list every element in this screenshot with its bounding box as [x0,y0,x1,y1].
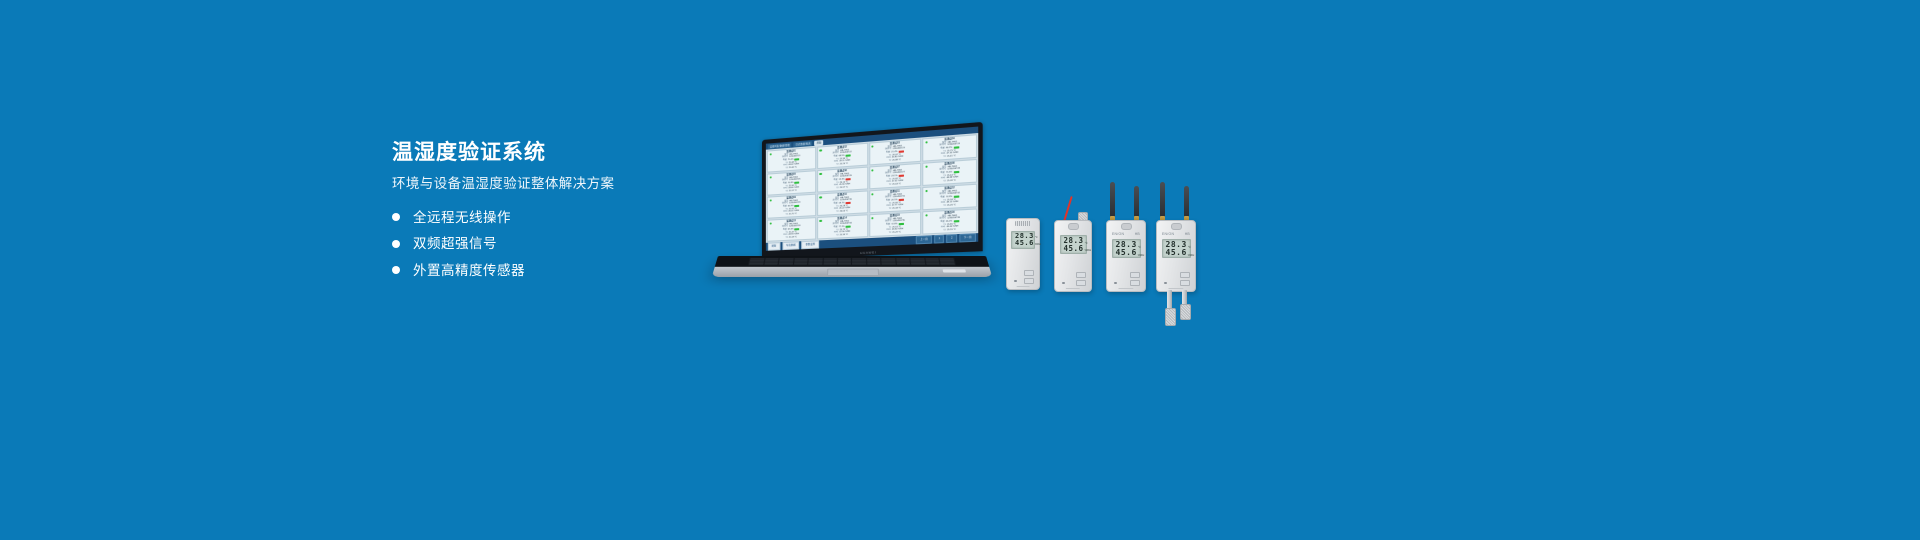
laptop-base [712,256,992,277]
sensor-card-row: T225.20 ℃ [836,162,848,166]
lcd-display: 28.3 ℃ 45.6 %RH [1112,239,1141,258]
device-brand-row: EN/ON HB [1157,232,1195,236]
hang-hole-icon [1121,223,1132,230]
sensor-row-value: 25.33 ℃ [892,207,901,210]
temperature-unit: ℃ [1035,237,1038,240]
lcd-display: 28.3 ℃ 45.6 %RH [1060,235,1087,254]
hang-hole-icon [1171,223,1182,230]
feature-label: 外置高精度传感器 [413,264,525,278]
lcd-humidity-line: 45.6 %RH [1166,249,1187,257]
laptop-keyboard[interactable] [748,258,956,266]
sensor-card[interactable]: 监测点13型号HB-TH01序列号1230456733电量69.4%T125.4… [767,217,816,242]
sensor-row-value: 26.04 ℃ [840,210,848,213]
lcd-humidity-line: 45.6 %RH [1064,245,1083,253]
sensor-card-grid: 监测点01型号HB-TH01序列号1230456721电量75.0%T125.6… [766,133,978,243]
sensor-card-row: T225.88 ℃ [889,159,901,163]
keyboard-key[interactable] [838,264,852,265]
sensor-row-value: 25.55 ℃ [947,228,956,231]
antenna-right-icon [1184,186,1189,218]
probe-sensor-mesh-2-icon [1180,304,1191,320]
promo-banner: 温湿度验证系统 环境与设备温湿度验证整体解决方案 全远程无线操作 双频超强信号 … [0,0,1920,540]
sensor-row-value: 25.97 ℃ [840,186,848,189]
page-2-button[interactable]: 2 [947,234,957,243]
sensor-card-row: T225.09 ℃ [943,179,956,183]
laptop-trackpad[interactable] [827,269,879,276]
device-body: 28.3 ℃ 45.6 %RH [1006,218,1040,290]
sensor-card-row: T225.18 ℃ [785,236,796,239]
sensor-row-key: T2 [889,183,892,186]
device-button-up[interactable] [1076,272,1086,278]
sensor-card[interactable]: 监测点03型号HB-TH01序列号1230456723电量21.4%T126.0… [869,139,922,166]
keyboard-key[interactable] [808,264,822,265]
keyboard-key[interactable] [852,264,866,265]
sensor-card-row: T225.41 ℃ [943,155,956,159]
bullet-icon [392,266,400,274]
sensor-card[interactable]: 监测点11型号HB-TH01序列号1230456731电量20.5%T125.6… [869,187,922,213]
device-button-down[interactable] [1076,280,1086,286]
lcd-display: 28.3 ℃ 45.6 %RH [1162,239,1191,258]
vent-grille-icon [1015,221,1031,226]
sensor-card[interactable]: 监测点14型号HB-TH01序列号1230456734电量77.1%T125.7… [817,214,868,239]
status-dot-icon [871,145,873,148]
sensor-card-row: T225.06 ℃ [785,166,796,169]
next-page-button[interactable]: 下一页 [959,233,976,242]
device-button-up[interactable] [1130,272,1140,278]
probe-sensor-mesh-icon [1165,308,1176,326]
status-led-icon [1164,282,1167,285]
device-logger-probe: 28.3 ℃ 45.6 %RH [1054,196,1092,292]
humidity-unit: %RH [1188,254,1195,257]
sensor-row-value: 25.29 ℃ [892,231,901,234]
device-button-pad[interactable] [1024,270,1034,284]
device-button-down[interactable] [1180,280,1190,286]
humidity-value: 45.6 [1064,245,1084,253]
status-led-icon [1062,282,1065,285]
status-dot-icon [769,153,771,156]
page-title: 温湿度验证系统 [392,142,722,163]
status-dot-icon [925,165,928,168]
keyboard-key[interactable] [897,264,911,265]
sensor-card[interactable]: 监测点16型号HB-TH01序列号1230456736电量65.2%T125.8… [922,208,977,234]
bullet-icon [392,213,400,221]
keyboard-row [749,264,955,265]
device-foot [1168,288,1183,290]
status-dot-icon [925,141,928,144]
device-button-pad[interactable] [1180,272,1190,286]
sensor-card-row: T226.04 ℃ [836,210,848,213]
keyboard-key[interactable] [911,264,925,265]
sensor-row-key: T2 [836,163,838,166]
antenna-left-icon [1110,182,1115,218]
humidity-value: 45.6 [1015,240,1034,247]
brand-left-label: EN/ON [1162,232,1174,236]
humidity-unit: %RH [1138,254,1145,257]
sensor-card-row: T225.33 ℃ [889,207,901,210]
feature-item-0: 全远程无线操作 [392,211,722,225]
feature-label: 全远程无线操作 [413,211,511,225]
sensor-row-key: T2 [785,190,787,193]
sensor-card[interactable]: 监测点04型号HB-TH01序列号1230456724电量80.2%T125.7… [922,134,977,162]
lcd-display: 28.3 ℃ 45.6 %RH [1011,231,1035,249]
prev-page-button[interactable]: 上一页 [916,235,932,244]
temperature-unit: ℃ [1085,242,1088,245]
device-body: EN/ON HB 28.3 ℃ 45.6 %RH [1106,220,1146,292]
sensor-row-value: 25.06 ℃ [789,166,797,169]
device-button-up[interactable] [1024,270,1034,276]
settings-button[interactable]: 参数设置 [802,240,820,249]
device-button-pad[interactable] [1130,272,1140,286]
status-dot-icon [925,189,928,192]
status-dot-icon [925,214,928,217]
status-dot-icon [769,222,771,225]
device-button-pad[interactable] [1076,272,1086,286]
keyboard-key[interactable] [793,264,807,265]
device-logger-compact: 28.3 ℃ 45.6 %RH [1006,218,1040,290]
sensor-row-key: T2 [889,159,892,162]
antenna-left-icon [1160,182,1165,218]
brand-right-label: HB [1185,232,1190,236]
sensor-row-key: T2 [785,213,787,216]
sensor-card[interactable]: 监测点08型号HB-TH01序列号1230456728电量71.6%T125.4… [922,159,977,186]
toolbar-spacer [821,240,914,244]
sensor-card-row: T225.12 ℃ [785,189,796,192]
device-body: 28.3 ℃ 45.6 %RH [1054,220,1092,292]
sensor-row-value: 25.63 ℃ [892,183,901,186]
status-led-icon [1014,280,1017,283]
sensor-card-row: T225.70 ℃ [785,213,796,216]
lcd-humidity-line: 45.6 %RH [1015,240,1031,247]
status-dot-icon [871,217,873,220]
sensor-card-row: T225.63 ℃ [889,183,901,186]
refresh-button[interactable]: 刷新 [768,242,780,251]
sensor-row-value: 25.88 ℃ [892,159,901,162]
sensor-row-value: 25.26 ℃ [947,204,956,207]
sensor-row-key: T2 [943,155,946,158]
device-logger-wireless-a: EN/ON HB 28.3 ℃ 45.6 %RH [1106,182,1146,292]
keyboard-key[interactable] [749,264,763,265]
sensor-card-row: T225.29 ℃ [889,231,901,234]
sensor-card-row: T225.39 ℃ [836,234,848,237]
export-data-button[interactable]: 导出数据 [782,241,799,250]
feature-item-2: 外置高精度传感器 [392,264,722,278]
sensor-row-key: T2 [785,167,787,170]
device-foot [1066,288,1080,290]
temperature-unit: ℃ [1188,246,1191,249]
sensor-row-key: T2 [836,187,838,190]
keyboard-key[interactable] [823,264,837,265]
antenna-right-icon [1134,186,1139,218]
sensor-card[interactable]: 监测点06型号HB-TH01序列号1230456726电量19.3%T126.1… [817,167,868,193]
sensor-row-key: T2 [943,180,946,183]
laptop-illustration: 设备列表/数据/参数 历史数据/报表 帮助 监测点01型号HB-TH01序列号1… [718,140,990,300]
keyboard-key[interactable] [882,264,896,265]
sensor-card[interactable]: 监测点05型号HB-TH01序列号1230456725电量76.8%T125.5… [767,170,816,195]
brand-left-label: EN/ON [1112,232,1124,236]
sensor-card-row: T225.55 ℃ [943,228,956,231]
banner-text-block: 温湿度验证系统 环境与设备温湿度验证整体解决方案 全远程无线操作 双频超强信号 … [392,142,722,290]
laptop-lid: 设备列表/数据/参数 历史数据/报表 帮助 监测点01型号HB-TH01序列号1… [762,122,983,260]
device-button-down[interactable] [1130,280,1140,286]
sensor-row-key: T2 [943,204,946,207]
device-brand-row: EN/ON HB [1107,232,1145,236]
keyboard-key[interactable] [941,264,955,265]
bullet-icon [392,240,400,248]
keyboard-key[interactable] [867,264,881,265]
sensor-row-key: T2 [943,229,946,232]
sensor-card[interactable]: 监测点15型号HB-TH01序列号1230456735电量72.8%T125.6… [869,211,922,237]
temperature-unit: ℃ [1138,246,1141,249]
status-led-icon [1114,282,1117,285]
status-dot-icon [819,172,821,175]
sensor-row-key: T2 [889,207,892,210]
sensor-row-value: 25.39 ℃ [840,234,848,237]
feature-item-1: 双频超强信号 [392,237,722,251]
humidity-value: 45.6 [1166,249,1187,257]
status-dot-icon [871,193,873,196]
sensor-card[interactable]: 监测点02型号HB-TH01序列号1230456722电量68.5%T125.3… [817,143,868,169]
sensor-card[interactable]: 监测点01型号HB-TH01序列号1230456721电量75.0%T125.6… [767,147,816,173]
keyboard-key[interactable] [764,264,778,265]
sensor-row-key: T2 [836,234,838,237]
device-foot [1118,288,1133,290]
lcd-humidity-line: 45.6 %RH [1116,249,1137,257]
keyboard-key[interactable] [779,264,793,265]
device-button-down[interactable] [1024,278,1034,284]
status-dot-icon [819,149,821,152]
sensor-row-key: T2 [785,236,787,239]
sensor-row-value: 25.20 ℃ [840,162,848,165]
banner-subtitle: 环境与设备温湿度验证整体解决方案 [392,177,722,191]
page-1-button[interactable]: 1 [934,235,944,244]
keyboard-key[interactable] [926,264,940,265]
humidity-unit: %RH [1085,249,1092,252]
device-body: EN/ON HB 28.3 ℃ 45.6 %RH [1156,220,1196,292]
device-button-up[interactable] [1180,272,1190,278]
sensor-card[interactable]: 监测点12型号HB-TH01序列号1230456732电量74.3%T125.5… [922,184,977,211]
sensor-row-key: T2 [836,210,838,213]
humidity-value: 45.6 [1116,249,1137,257]
sensor-card[interactable]: 监测点09型号HB-TH01序列号1230456729电量66.9%T125.9… [767,194,816,219]
sensor-row-key: T2 [889,232,892,235]
sensor-row-value: 25.12 ℃ [789,189,797,192]
brand-right-label: HB [1135,232,1140,236]
feature-list: 全远程无线操作 双频超强信号 外置高精度传感器 [392,211,722,278]
sensor-row-value: 25.18 ℃ [789,236,797,239]
humidity-unit: %RH [1035,244,1041,247]
sensor-row-value: 25.41 ℃ [947,155,956,158]
device-foot [1017,286,1030,288]
sensor-card[interactable]: 监测点10型号HB-TH01序列号1230456730电量18.7%T126.2… [817,190,868,216]
sensor-row-value: 25.09 ℃ [947,179,956,182]
status-dot-icon [819,196,821,199]
sensor-card[interactable]: 监测点07型号HB-TH01序列号1230456727电量23.1%T125.8… [869,163,922,190]
status-dot-icon [769,199,771,202]
device-logger-wireless-b: EN/ON HB 28.3 ℃ 45.6 %RH [1156,182,1196,292]
hang-hole-icon [1068,223,1079,230]
sensor-card-row: T225.26 ℃ [943,204,956,207]
sensor-card-row: T225.97 ℃ [836,186,848,189]
status-dot-icon [819,219,821,222]
laptop-base-badge [943,269,966,272]
feature-label: 双频超强信号 [413,237,497,251]
laptop-screen: 设备列表/数据/参数 历史数据/报表 帮助 监测点01型号HB-TH01序列号1… [766,127,978,251]
sensor-row-value: 25.70 ℃ [789,213,797,216]
status-dot-icon [871,169,873,172]
status-dot-icon [769,176,771,179]
